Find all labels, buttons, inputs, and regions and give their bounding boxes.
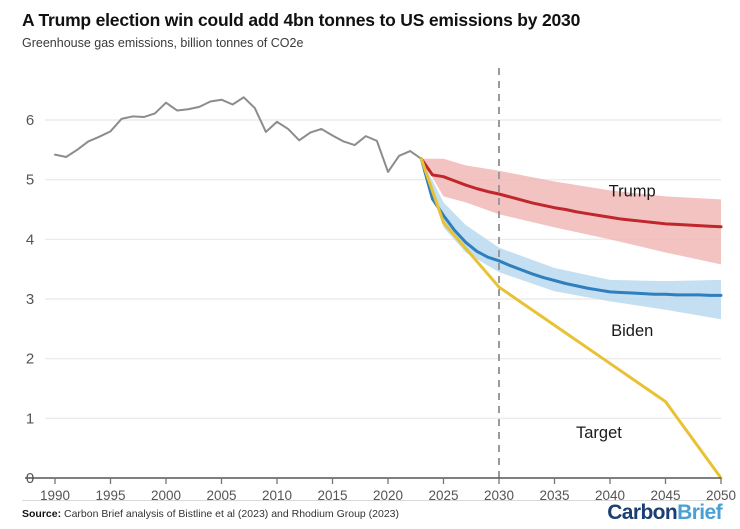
ytick-0: 0: [26, 470, 34, 487]
ytick-5: 5: [26, 172, 34, 189]
source-label: Source:: [22, 508, 61, 520]
biden-label: Biden: [611, 322, 653, 340]
axes: [25, 478, 721, 484]
ytick-4: 4: [26, 231, 34, 248]
ytick-3: 3: [26, 291, 34, 308]
target-label: Target: [576, 424, 622, 442]
line-historical: [55, 97, 421, 172]
logo-carbon-text: Carbon: [607, 501, 677, 524]
ytick-1: 1: [26, 410, 34, 427]
ytick-6: 6: [26, 112, 34, 129]
chart-page: A Trump election win could add 4bn tonne…: [0, 0, 740, 529]
source-note: Source: Carbon Brief analysis of Bistlin…: [22, 508, 399, 520]
source-text: Carbon Brief analysis of Bistline et al …: [61, 508, 399, 520]
logo-brief-text: Brief: [677, 501, 722, 524]
carbonbrief-logo: CarbonBrief: [607, 501, 722, 525]
trump-label: Trump: [609, 182, 656, 200]
gridlines: [45, 120, 721, 418]
emissions-line-chart: 0123456199019952000200520102015202020252…: [0, 0, 740, 529]
ytick-2: 2: [26, 351, 34, 368]
tick-labels: 0123456199019952000200520102015202020252…: [26, 112, 736, 503]
